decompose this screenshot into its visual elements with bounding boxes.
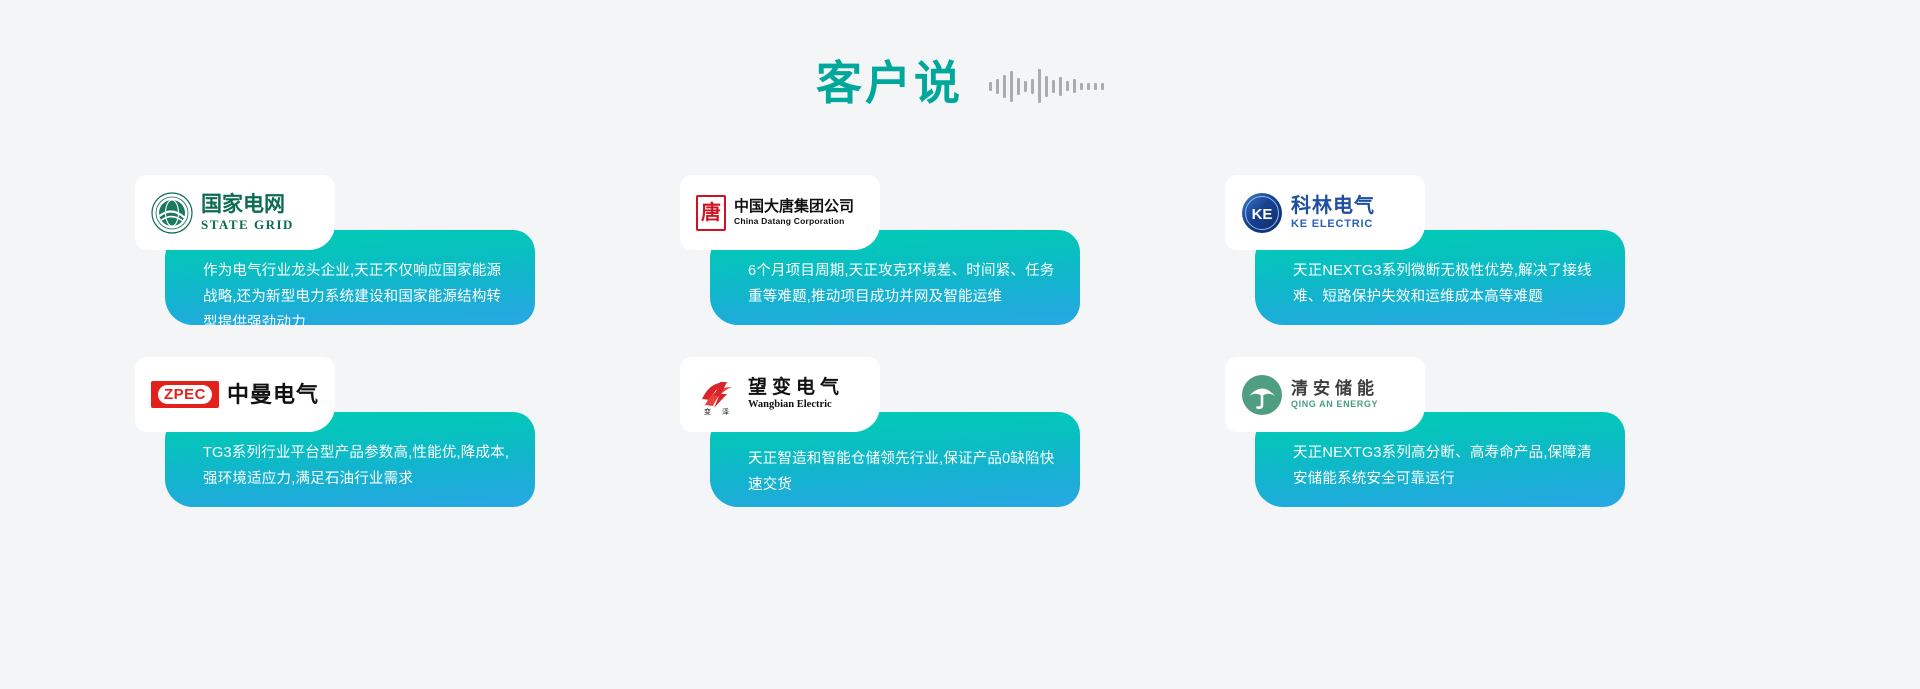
brand-logo-chip: 变 泽 望变电气 Wangbian Electric xyxy=(680,357,880,432)
svg-text:KE: KE xyxy=(1252,206,1273,223)
brand-logo-chip: KE 科林电气 KE ELECTRIC xyxy=(1225,175,1425,250)
testimonial-quote: 天正智造和智能仓储领先行业,保证产品0缺陷快速交货 xyxy=(748,446,1058,498)
page-title: 客户说 xyxy=(816,60,963,106)
testimonial-quote: 天正NEXTG3系列高分断、高寿命产品,保障清安储能系统安全可靠运行 xyxy=(1293,440,1603,492)
brand-name-cn: 中国大唐集团公司 xyxy=(734,199,854,214)
testimonial-quote: TG3系列行业平台型产品参数高,性能优,降成本,强环境适应力,满足石油行业需求 xyxy=(203,440,513,492)
brand-name-cn: 清安储能 xyxy=(1291,380,1379,397)
brand-name-cn: 国家电网 xyxy=(201,194,294,215)
brand-logo-chip: 国家电网 STATE GRID xyxy=(135,175,335,250)
brand-logo-chip: 唐 中国大唐集团公司 China Datang Corporation xyxy=(680,175,880,250)
qingan-umbrella-icon xyxy=(1241,374,1283,416)
ke-circle-icon: KE xyxy=(1241,192,1283,234)
brand-logo-chip: ZPEC 中曼电气 xyxy=(135,357,335,432)
testimonial-card[interactable]: 天正NEXTG3系列高分断、高寿命产品,保障清安储能系统安全可靠运行 清安储能 … xyxy=(1225,357,1625,507)
audio-waveform-icon xyxy=(989,60,1104,106)
zpec-wordmark-icon: ZPEC xyxy=(151,381,219,408)
testimonial-card[interactable]: 天正NEXTG3系列微断无极性优势,解决了接线难、短路保护失效和运维成本高等难题 xyxy=(1225,175,1625,325)
svg-text:泽: 泽 xyxy=(722,408,729,416)
testimonial-quote: 作为电气行业龙头企业,天正不仅响应国家能源战略,还为新型电力系统建设和国家能源结… xyxy=(203,258,513,325)
brand-name-cn: 科林电气 xyxy=(1291,196,1375,216)
section-header: 客户说 xyxy=(0,60,1920,106)
state-grid-globe-icon xyxy=(151,192,193,234)
datang-seal-icon: 唐 xyxy=(696,195,726,231)
brand-name-en: QING AN ENERGY xyxy=(1291,400,1379,409)
testimonial-card[interactable]: 天正智造和智能仓储领先行业,保证产品0缺陷快速交货 变 泽 望变电气 Wangb… xyxy=(680,357,1080,507)
brand-logo-chip: 清安储能 QING AN ENERGY xyxy=(1225,357,1425,432)
brand-name-en: Wangbian Electric xyxy=(748,400,844,411)
brand-name-cn: 望变电气 xyxy=(748,378,844,397)
testimonial-quote: 6个月项目周期,天正攻克环境差、时间紧、任务重等难题,推动项目成功并网及智能运维 xyxy=(748,258,1058,310)
svg-text:变: 变 xyxy=(704,407,711,416)
brand-name-en: STATE GRID xyxy=(201,218,294,231)
testimonial-card[interactable]: 作为电气行业龙头企业,天正不仅响应国家能源战略,还为新型电力系统建设和国家能源结… xyxy=(135,175,535,325)
testimonial-card[interactable]: TG3系列行业平台型产品参数高,性能优,降成本,强环境适应力,满足石油行业需求 … xyxy=(135,357,535,507)
brand-name-en: ZPEC xyxy=(158,385,212,404)
brand-name-cn: 中曼电气 xyxy=(227,384,319,406)
brand-name-en: China Datang Corporation xyxy=(734,217,854,226)
wangbian-swirl-icon: 变 泽 xyxy=(696,373,740,417)
testimonial-quote: 天正NEXTG3系列微断无极性优势,解决了接线难、短路保护失效和运维成本高等难题 xyxy=(1293,258,1603,310)
testimonial-card-grid: 作为电气行业龙头企业,天正不仅响应国家能源战略,还为新型电力系统建设和国家能源结… xyxy=(135,175,1785,507)
brand-name-en: KE ELECTRIC xyxy=(1291,219,1375,230)
testimonial-card[interactable]: 6个月项目周期,天正攻克环境差、时间紧、任务重等难题,推动项目成功并网及智能运维… xyxy=(680,175,1080,325)
